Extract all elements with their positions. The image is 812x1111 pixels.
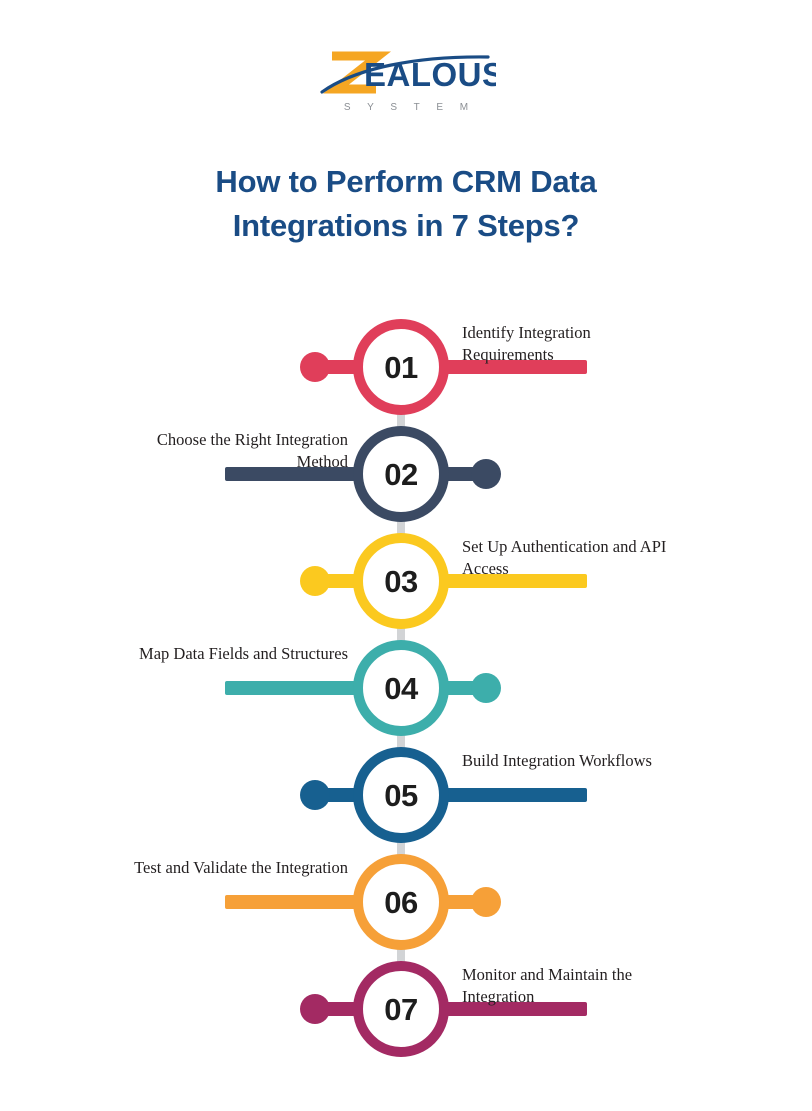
step-dot-01 (300, 352, 330, 382)
step-label-03: Set Up Authentication and API Access (462, 536, 677, 580)
step-dot-06 (471, 887, 501, 917)
logo-subtitle: S Y S T E M (337, 102, 475, 113)
page-title: How to Perform CRM Data Integrations in … (0, 160, 812, 248)
step-dot-05 (300, 780, 330, 810)
step-dot-03 (300, 566, 330, 596)
step-dot-02 (471, 459, 501, 489)
zealous-logo-mark: EALOUS (316, 48, 496, 100)
page-title-line-2: Integrations in 7 Steps? (0, 204, 812, 248)
step-circle-05: 05 (353, 747, 449, 843)
step-circle-02: 02 (353, 426, 449, 522)
step-circle-04: 04 (353, 640, 449, 736)
step-dot-04 (471, 673, 501, 703)
step-item-07[interactable]: 07 Monitor and Maintain the Integration (0, 950, 812, 1060)
step-number-03: 03 (384, 566, 417, 597)
step-item-05[interactable]: 05 Build Integration Workflows (0, 736, 812, 846)
svg-text:EALOUS: EALOUS (364, 56, 496, 93)
step-label-07: Monitor and Maintain the Integration (462, 964, 677, 1008)
step-number-05: 05 (384, 780, 417, 811)
step-number-02: 02 (384, 459, 417, 490)
step-label-01: Identify Integration Requirements (462, 322, 677, 366)
step-item-03[interactable]: 03 Set Up Authentication and API Access (0, 522, 812, 632)
step-item-06[interactable]: 06 Test and Validate the Integration (0, 843, 812, 953)
step-circle-01: 01 (353, 319, 449, 415)
step-label-06: Test and Validate the Integration (133, 857, 348, 879)
brand-logo: EALOUS S Y S T E M (0, 48, 812, 113)
step-number-07: 07 (384, 994, 417, 1025)
step-label-04: Map Data Fields and Structures (133, 643, 348, 665)
step-number-04: 04 (384, 673, 417, 704)
step-circle-06: 06 (353, 854, 449, 950)
step-circle-03: 03 (353, 533, 449, 629)
step-label-05: Build Integration Workflows (462, 750, 677, 772)
step-item-04[interactable]: 04 Map Data Fields and Structures (0, 629, 812, 739)
step-number-06: 06 (384, 887, 417, 918)
step-circle-07: 07 (353, 961, 449, 1057)
page-title-line-1: How to Perform CRM Data (0, 160, 812, 204)
step-number-01: 01 (384, 352, 417, 383)
step-item-01[interactable]: 01 Identify Integration Requirements (0, 308, 812, 418)
step-item-02[interactable]: 02 Choose the Right Integration Method (0, 415, 812, 525)
steps-container: 01 Identify Integration Requirements 02 … (0, 296, 812, 1066)
step-dot-07 (300, 994, 330, 1024)
step-label-02: Choose the Right Integration Method (133, 429, 348, 473)
